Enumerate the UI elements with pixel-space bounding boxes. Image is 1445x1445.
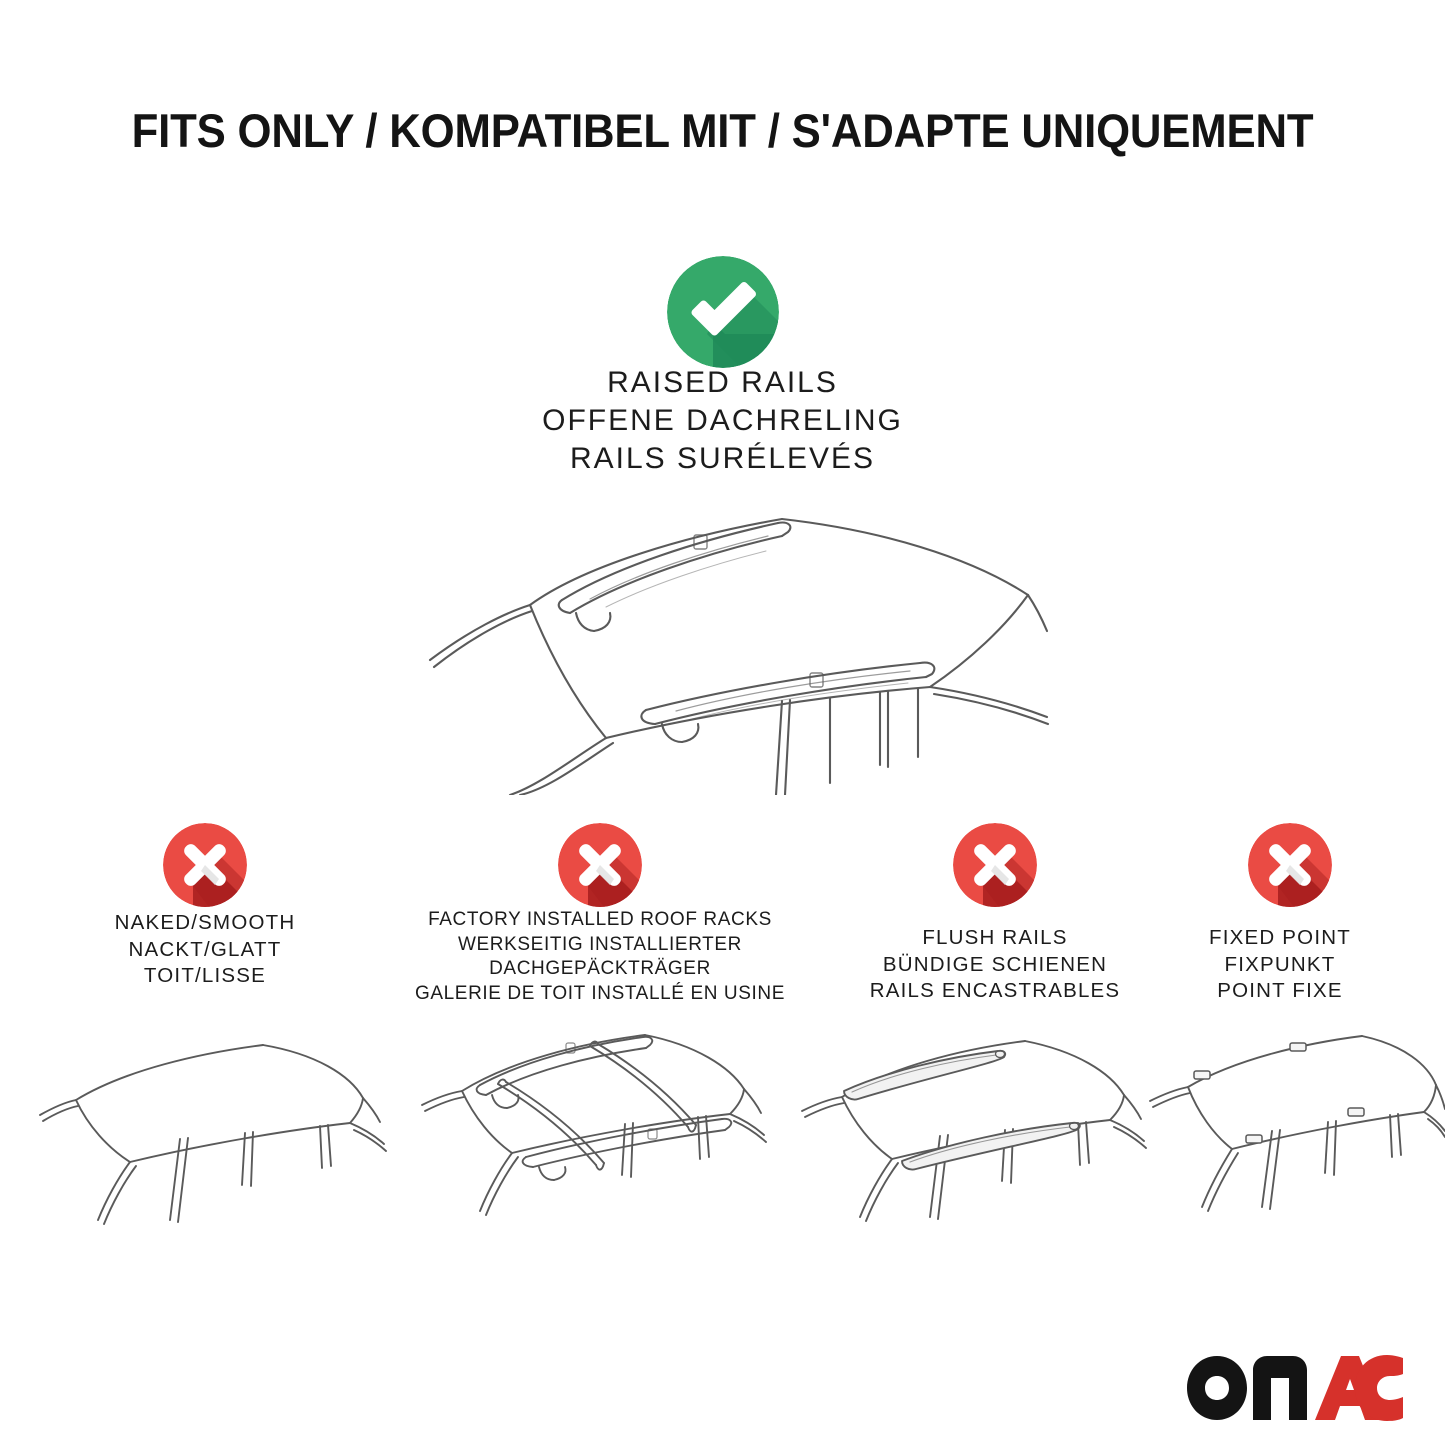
compatible-label-line-fr: RAILS SURÉLEVÉS [0, 440, 1445, 478]
label-line-fr: POINT FIXE [1130, 978, 1430, 1005]
compatible-label-line-de: OFFENE DACHRELING [0, 402, 1445, 440]
check-circle-icon [667, 256, 779, 368]
incompatible-label-fixed-point: FIXED POINT FIXPUNKT POINT FIXE [1130, 925, 1430, 1005]
page-title: FITS ONLY / KOMPATIBEL MIT / S'ADAPTE UN… [51, 103, 1395, 158]
cross-circle-icon [953, 823, 1037, 907]
cross-circle-icon [163, 823, 247, 907]
compatible-label: RAISED RAILS OFFENE DACHRELING RAILS SUR… [0, 364, 1445, 478]
incompatible-label-flush-rails: FLUSH RAILS BÜNDIGE SCHIENEN RAILS ENCAS… [815, 925, 1175, 1005]
cross-circle-icon [1248, 823, 1332, 907]
label-line-de-2: DACHGEPÄCKTRÄGER [370, 957, 830, 982]
car-roof-fixed-point-illustration [1140, 1015, 1445, 1265]
label-line-en: FACTORY INSTALLED ROOF RACKS [370, 908, 830, 933]
label-line-de: NACKT/GLATT [25, 937, 385, 964]
label-line-en: NAKED/SMOOTH [25, 910, 385, 937]
label-line-de: FIXPUNKT [1130, 952, 1430, 979]
label-line-en: FIXED POINT [1130, 925, 1430, 952]
incompatible-label-naked-smooth: NAKED/SMOOTH NACKT/GLATT TOIT/LISSE [25, 910, 385, 990]
cross-circle-icon [558, 823, 642, 907]
incompatible-label-factory-roof-racks: FACTORY INSTALLED ROOF RACKS WERKSEITIG … [370, 908, 830, 1007]
label-line-de: BÜNDIGE SCHIENEN [815, 952, 1175, 979]
label-line-de-1: WERKSEITIG INSTALLIERTER [370, 933, 830, 958]
label-line-en: FLUSH RAILS [815, 925, 1175, 952]
omac-logo [1183, 1352, 1408, 1424]
label-line-fr: TOIT/LISSE [25, 963, 385, 990]
car-roof-flush-rails-illustration [780, 1015, 1155, 1265]
car-roof-naked-smooth-illustration [20, 1020, 390, 1265]
car-roof-raised-rails-illustration [410, 495, 1050, 795]
label-line-fr: GALERIE DE TOIT INSTALLÉ EN USINE [370, 982, 830, 1007]
label-line-fr: RAILS ENCASTRABLES [815, 978, 1175, 1005]
compatible-label-line-en: RAISED RAILS [0, 364, 1445, 402]
car-roof-factory-roof-racks-illustration [400, 1015, 775, 1265]
